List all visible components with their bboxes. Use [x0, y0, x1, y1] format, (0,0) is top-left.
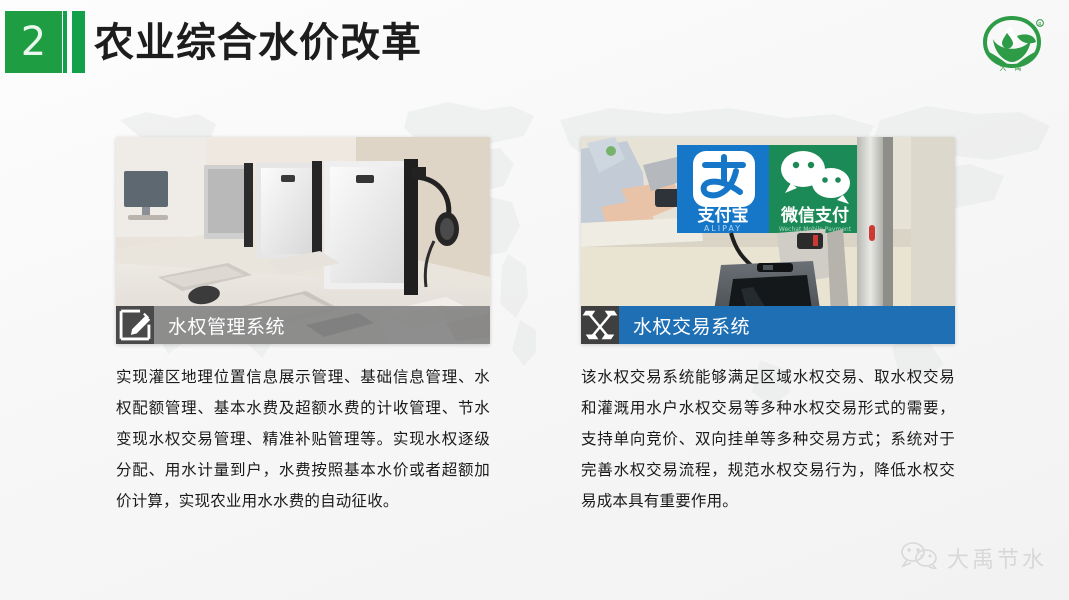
wechat-watermark: 大禹节水	[900, 541, 1047, 574]
slide-header: 2 农业综合水价改革 R 大 禹	[0, 0, 1069, 88]
wechat-sign-cn: 微信支付	[780, 205, 849, 226]
dayu-logo-text: 大 禹	[977, 63, 1047, 73]
edit-pencil-icon	[116, 306, 154, 344]
title-accent-bar-thick	[72, 11, 85, 73]
watermark-text: 大禹节水	[947, 542, 1047, 574]
dayu-logo: R 大 禹	[977, 12, 1047, 74]
card-water-rights-trading: 支付宝 ALIPAY	[581, 137, 955, 517]
alipay-sign-cn: 支付宝	[698, 205, 749, 226]
wechat-icon	[900, 541, 938, 574]
caption-label: 水权交易系统	[619, 312, 750, 339]
title-accent-bar-thin	[63, 11, 67, 73]
card-body-text: 该水权交易系统能够满足区域水权交易、取水权交易和灌溉用水户水权交易等多种水权交易…	[581, 362, 955, 517]
caption-bar-water-rights-management: 水权管理系统	[116, 306, 490, 344]
caption-bar-water-rights-trading: 水权交易系统	[581, 306, 955, 344]
card-body-text: 实现灌区地理位置信息展示管理、基础信息管理、水权配额管理、基本水费及超额水费的计…	[116, 362, 490, 517]
card-water-rights-management: 水权管理系统 实现灌区地理位置信息展示管理、基础信息管理、水权配额管理、基本水费…	[116, 137, 490, 517]
alipay-sign-en: ALIPAY	[704, 224, 742, 233]
page-title: 农业综合水价改革	[94, 12, 422, 74]
section-number-badge: 2	[5, 11, 62, 73]
caption-label: 水权管理系统	[154, 312, 285, 339]
office-workstations-photo: 水权管理系统	[116, 137, 490, 344]
mobile-payment-terminal-photo: 支付宝 ALIPAY	[581, 137, 955, 344]
exchange-arrows-icon	[581, 306, 619, 344]
slide-canvas: 2 农业综合水价改革 R 大 禹	[0, 0, 1069, 600]
svg-text:R: R	[1038, 22, 1042, 28]
